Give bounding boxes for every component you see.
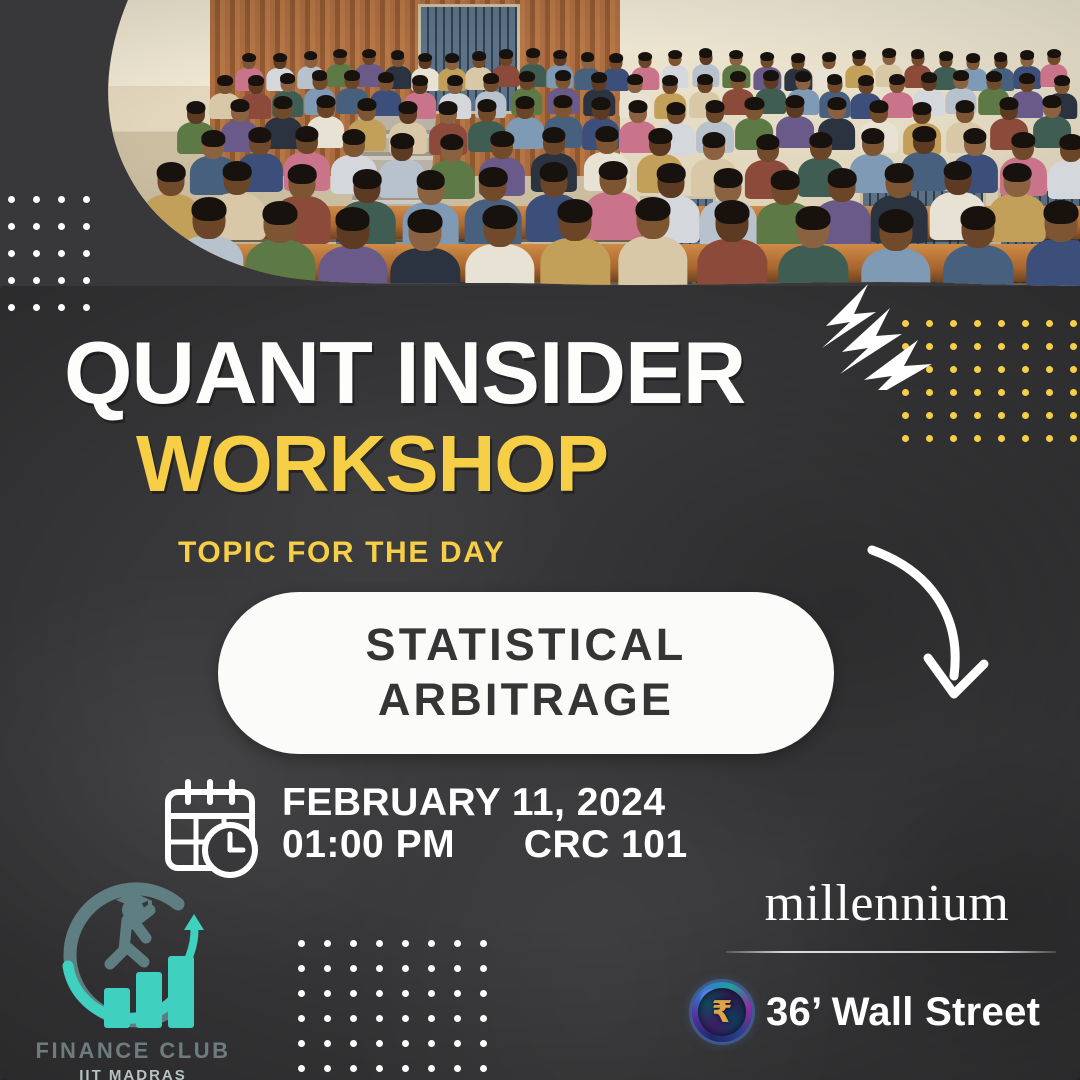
topic-label: TOPIC FOR THE DAY: [178, 536, 505, 570]
event-poster: QUANT INSIDER WORKSHOP TOPIC FOR THE DAY…: [0, 0, 1080, 1080]
curved-arrow-icon: [858, 536, 1008, 708]
event-time: 01:00 PM: [282, 823, 455, 866]
sponsor-millennium: millennium: [756, 878, 1018, 930]
page-title: QUANT INSIDER: [64, 330, 824, 416]
hero-photo: [0, 0, 1080, 286]
event-date: FEBRUARY 11, 2024: [282, 782, 688, 824]
event-details: FEBRUARY 11, 2024 01:00 PM CRC 101: [282, 782, 688, 865]
sponsor-wall-street-label: 36’ Wall Street: [766, 990, 1040, 1035]
page-subtitle: WORKSHOP: [136, 424, 608, 504]
lightning-bolt-icon: [806, 282, 936, 390]
rupee-symbol: ₹: [692, 982, 752, 1042]
finance-club-institute: IIT MADRAS: [28, 1067, 238, 1080]
rupee-coin-icon: ₹: [692, 982, 752, 1042]
topic-title-line1: STATISTICAL: [366, 618, 687, 673]
sponsor-divider: [726, 951, 1056, 953]
topic-pill: STATISTICAL ARBITRAGE: [218, 592, 834, 754]
finance-club-logo: FINANCE CLUB IIT MADRAS: [28, 880, 238, 1076]
topic-title-line2: ARBITRAGE: [378, 673, 674, 728]
sponsor-wall-street: ₹ 36’ Wall Street: [692, 982, 1040, 1042]
calendar-clock-icon: [162, 778, 270, 878]
finance-club-name: FINANCE CLUB: [28, 1038, 238, 1064]
event-venue: CRC 101: [524, 823, 688, 866]
